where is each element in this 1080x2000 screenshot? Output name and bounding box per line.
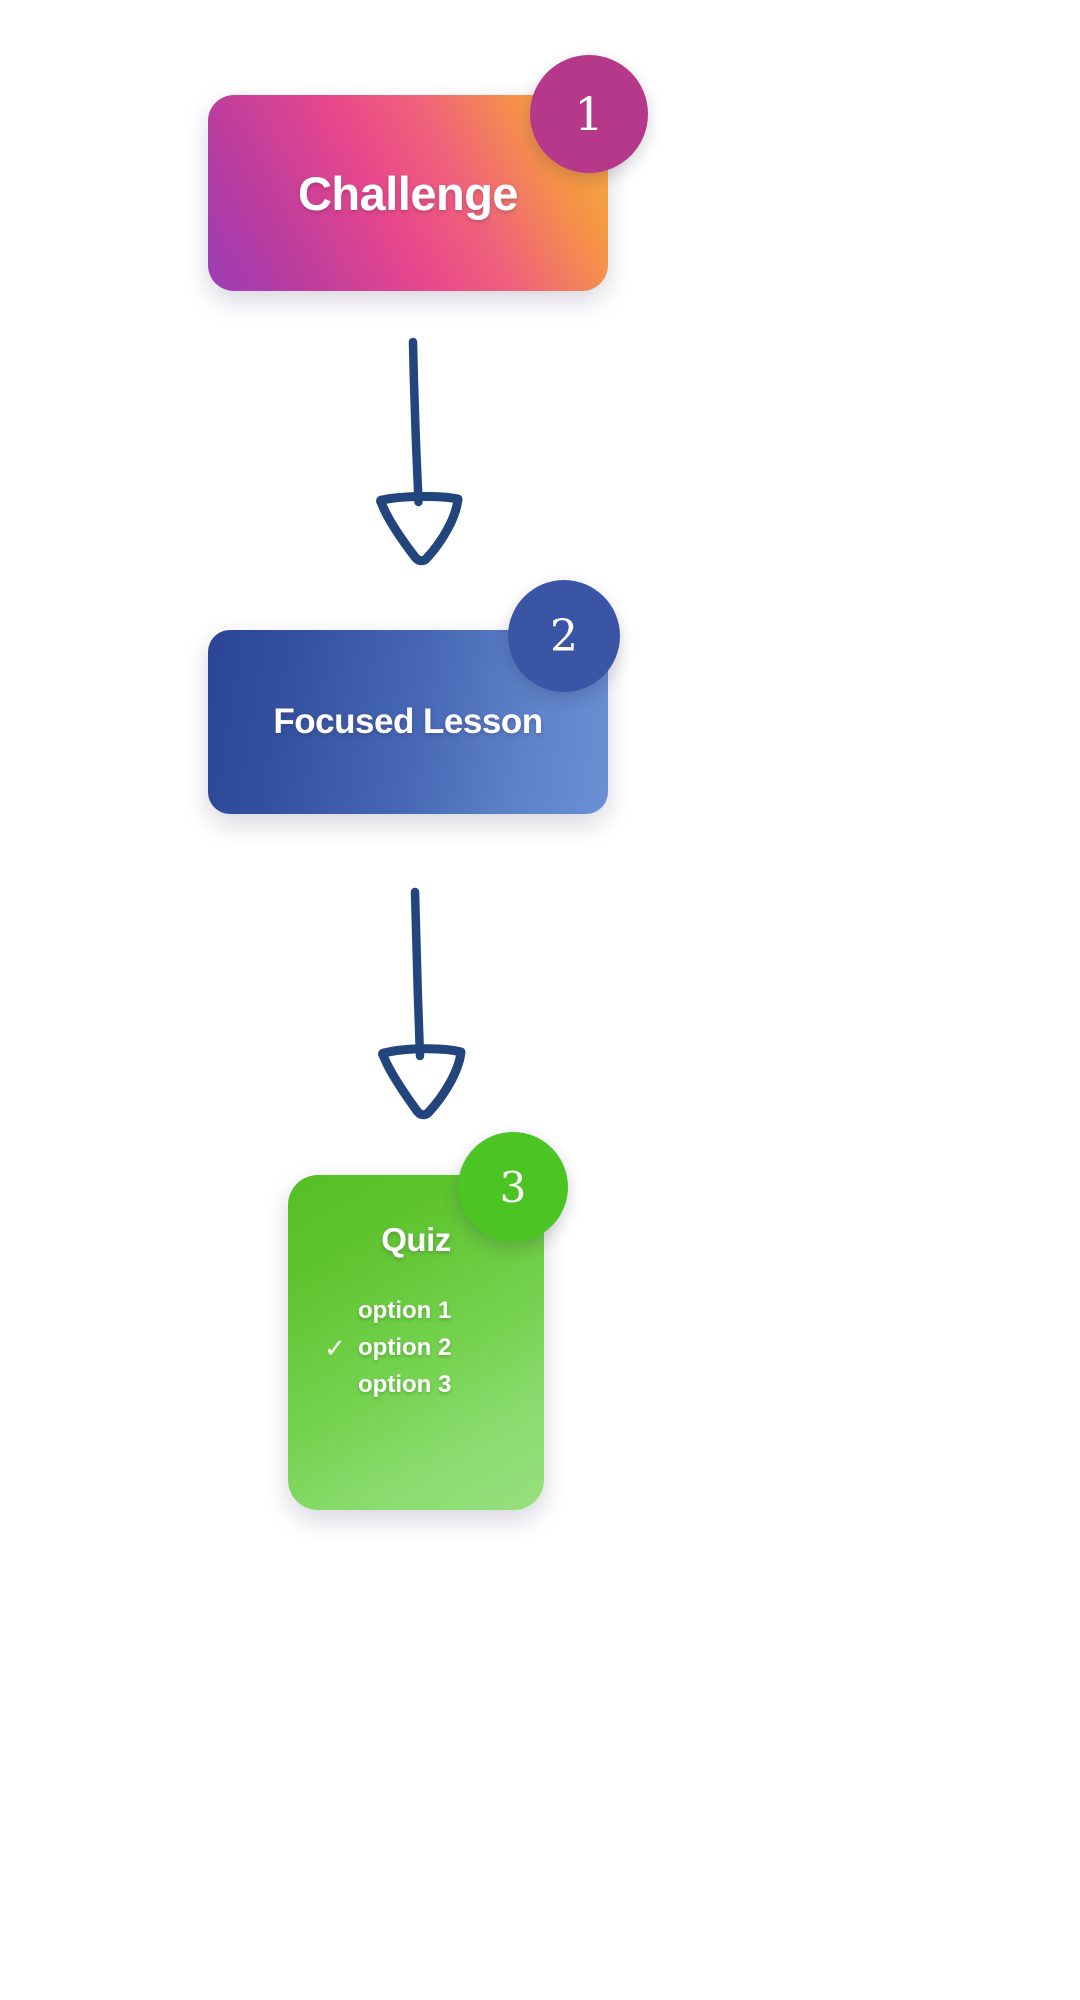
step-badge-3: 3 bbox=[458, 1132, 568, 1242]
flow-diagram-canvas: Challenge 1 Focused Lesson 2 Quiz option… bbox=[0, 0, 1080, 2000]
quiz-option-1[interactable]: option 1 bbox=[322, 1297, 451, 1325]
connector-arrow-2 bbox=[330, 880, 530, 1130]
step-card-quiz-title: Quiz bbox=[381, 1221, 451, 1259]
check-icon-option-2: ✓ bbox=[322, 1335, 348, 1361]
step-badge-1: 1 bbox=[530, 55, 648, 173]
quiz-option-list: option 1 ✓ option 2 option 3 bbox=[288, 1297, 544, 1399]
quiz-option-2-label: option 2 bbox=[358, 1334, 451, 1362]
step-card-challenge-title: Challenge bbox=[298, 166, 518, 221]
quiz-option-2[interactable]: ✓ option 2 bbox=[322, 1334, 451, 1362]
quiz-option-3[interactable]: option 3 bbox=[322, 1371, 451, 1399]
quiz-option-1-label: option 1 bbox=[358, 1297, 451, 1325]
quiz-option-3-label: option 3 bbox=[358, 1371, 451, 1399]
step-badge-2: 2 bbox=[508, 580, 620, 692]
connector-arrow-1 bbox=[330, 330, 530, 580]
step-card-focused-lesson-title: Focused Lesson bbox=[273, 702, 542, 742]
